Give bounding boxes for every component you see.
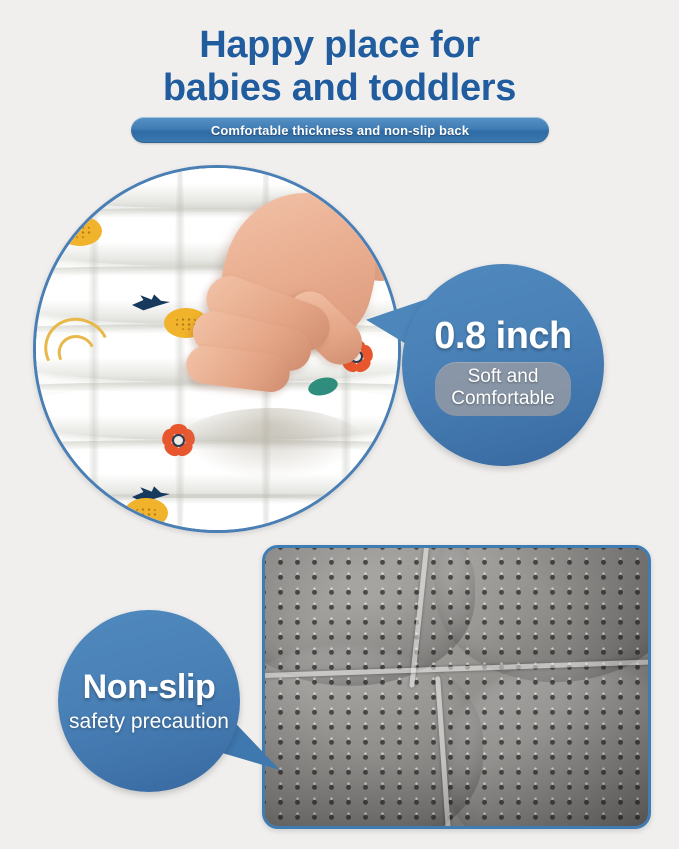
page-title-line1: Happy place for — [199, 24, 480, 66]
non-slip-callout-bubble: Non-slip safety precaution — [58, 610, 240, 792]
thickness-badge-line2: Comfortable — [451, 388, 555, 410]
non-slip-title: Non-slip — [83, 668, 216, 706]
print-lemon-icon — [58, 216, 102, 246]
thickness-callout-bubble: 0.8 inch Soft and Comfortable — [402, 264, 604, 466]
thickness-badge-line1: Soft and — [451, 366, 555, 388]
top-circle-photo — [33, 165, 401, 533]
print-lemon-icon — [124, 498, 168, 528]
infographic-stage: Happy place for babies and toddlers Comf… — [0, 0, 679, 849]
non-slip-subtitle: safety precaution — [69, 710, 229, 734]
bottom-grid-photo — [262, 545, 651, 829]
hand-pressing — [186, 174, 396, 474]
thickness-value: 0.8 inch — [434, 316, 572, 356]
page-title: Happy place for babies and toddlers — [0, 24, 679, 110]
subtitle-pill: Comfortable thickness and non-slip back — [131, 117, 549, 143]
page-title-line2: babies and toddlers — [0, 67, 679, 110]
subtitle-pill-label: Comfortable thickness and non-slip back — [211, 123, 469, 138]
thickness-badge: Soft and Comfortable — [435, 362, 571, 416]
quilted-mattress-texture — [36, 168, 398, 530]
